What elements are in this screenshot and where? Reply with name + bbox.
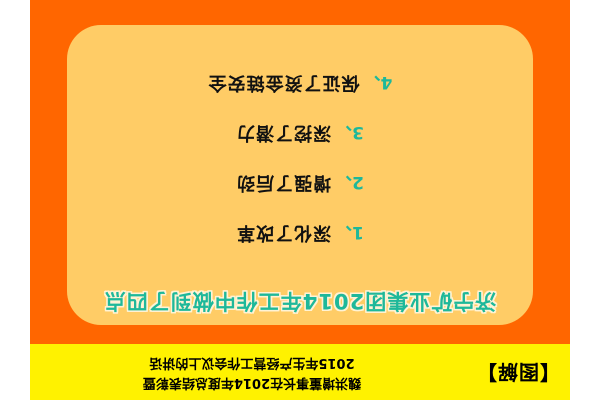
- header-title-block: 魏洪增董事长在2014年度总结表彰暨 2015年生产经营工作会议上的讲话: [38, 353, 466, 390]
- content-card: 济宁矿业集团2014年工作中做到了四点 1、 深化了改革 2、 增强了后劲 3、…: [67, 25, 533, 325]
- point-text: 深化了改革: [236, 223, 331, 241]
- slide-header-band: 【图解】 魏洪增董事长在2014年度总结表彰暨 2015年生产经营工作会议上的讲…: [30, 344, 570, 400]
- slide-frame: 【图解】 魏洪增董事长在2014年度总结表彰暨 2015年生产经营工作会议上的讲…: [30, 0, 570, 400]
- card-heading: 济宁矿业集团2014年工作中做到了四点: [67, 288, 533, 313]
- point-index: 4、: [360, 74, 393, 91]
- point-text: 深挖了潜力: [236, 123, 331, 141]
- point-list: 1、 深化了改革 2、 增强了后劲 3、 深挖了潜力 4、 保证了资金链安全: [67, 57, 533, 257]
- header-title-line-1: 魏洪增董事长在2014年度总结表彰暨: [143, 373, 361, 391]
- list-item: 4、 保证了资金链安全: [67, 57, 533, 107]
- slide-root: 【图解】 魏洪增董事长在2014年度总结表彰暨 2015年生产经营工作会议上的讲…: [0, 0, 600, 400]
- point-index: 3、: [331, 124, 364, 141]
- header-tag-label: 【图解】: [466, 362, 560, 382]
- point-text: 增强了后劲: [236, 173, 331, 191]
- header-title-line-2: 2015年生产经营工作会议上的讲话: [149, 353, 354, 371]
- point-index: 1、: [331, 224, 364, 241]
- point-text: 保证了资金链安全: [208, 73, 360, 91]
- list-item: 2、 增强了后劲: [67, 157, 533, 207]
- point-index: 2、: [331, 174, 364, 191]
- list-item: 3、 深挖了潜力: [67, 107, 533, 157]
- list-item: 1、 深化了改革: [67, 207, 533, 257]
